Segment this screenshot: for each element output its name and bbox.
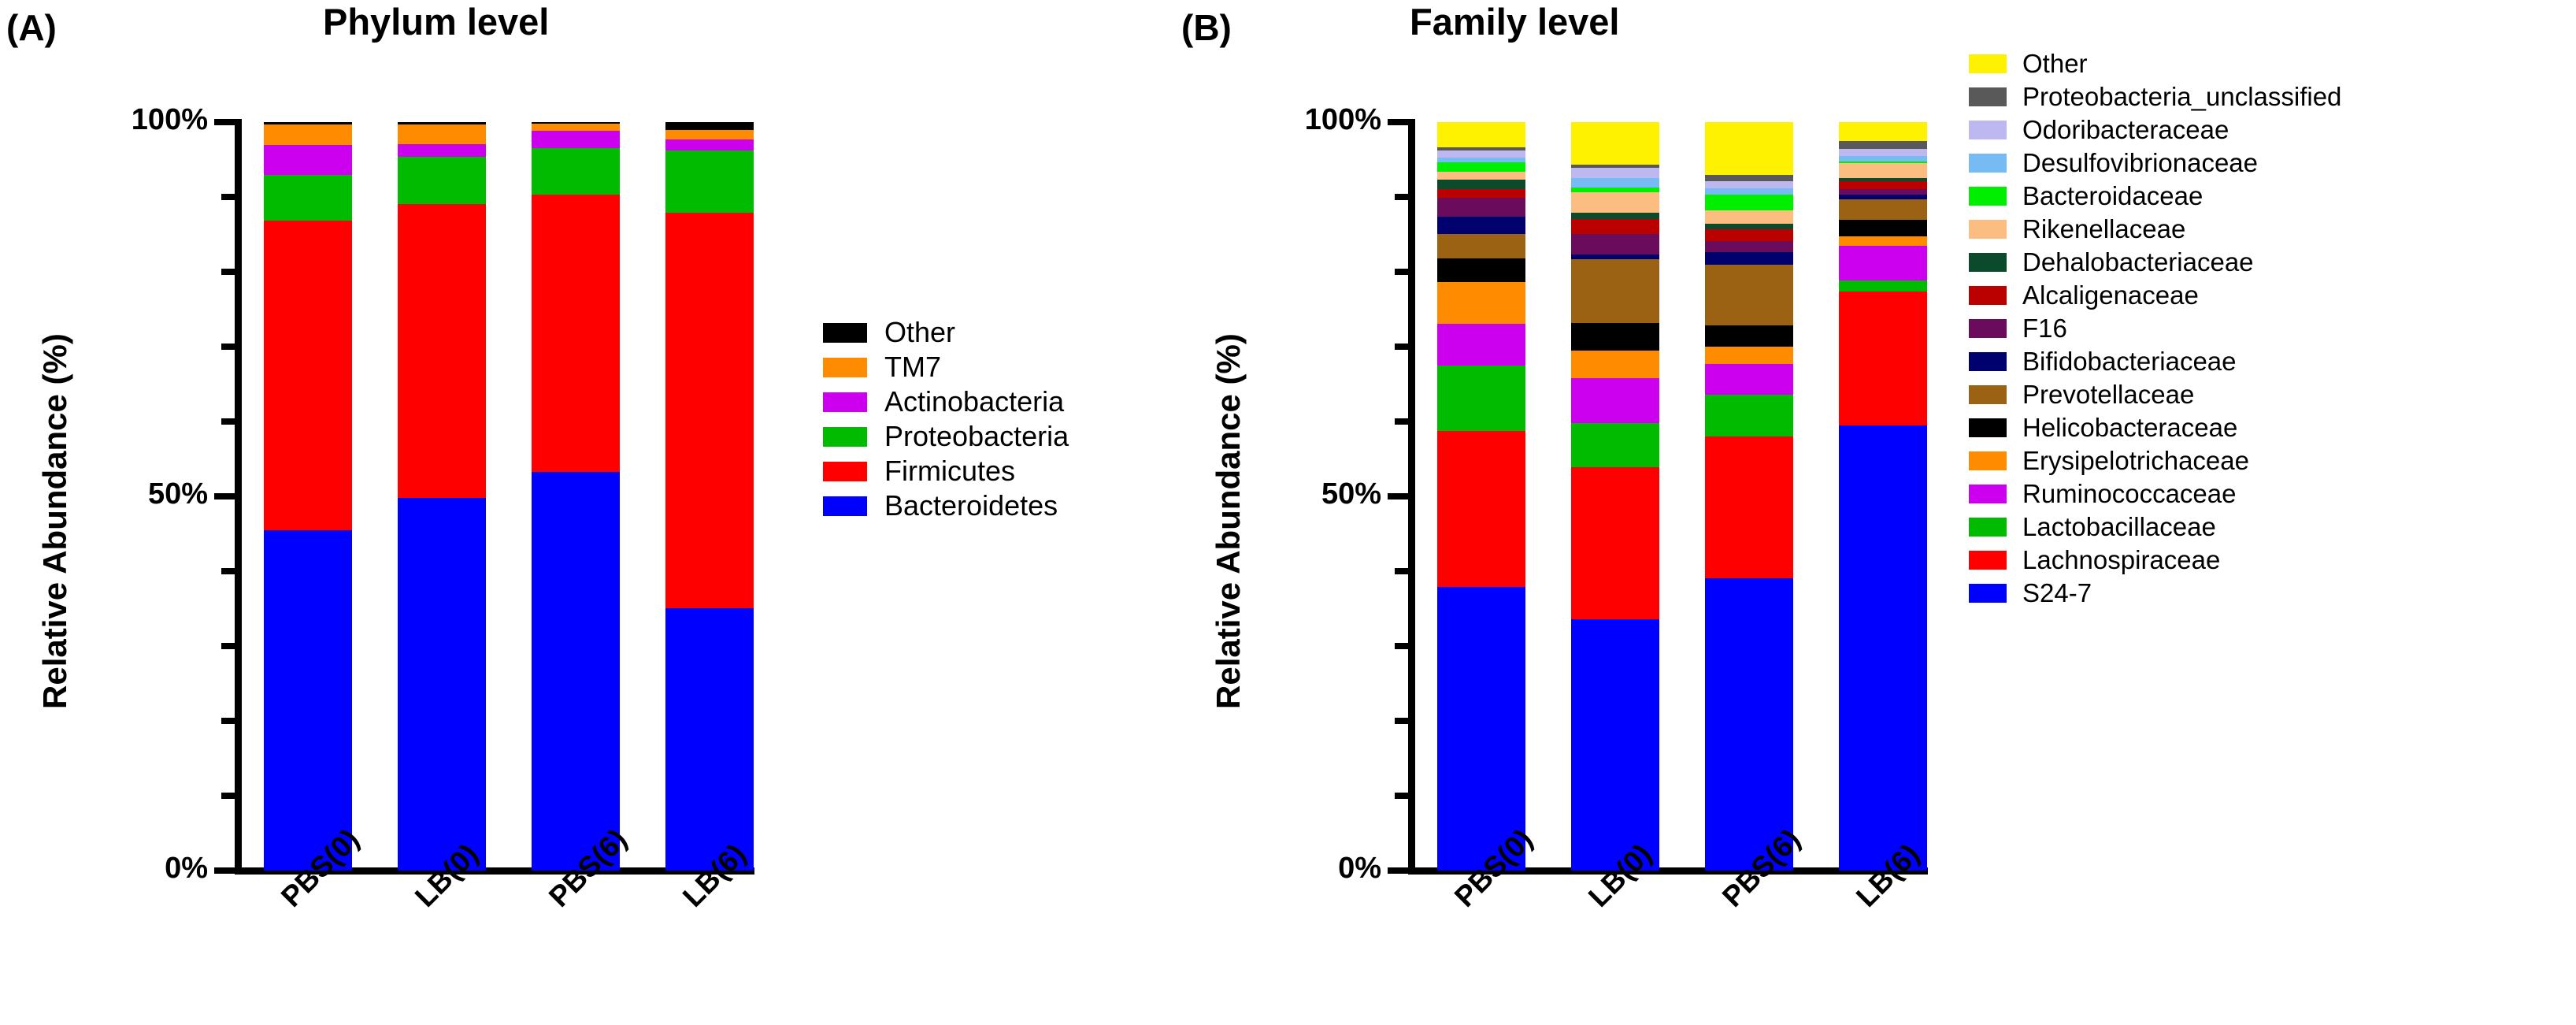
legend-item-label: Bifidobacteriaceae (2022, 347, 2237, 377)
figure-root: (A) Phylum level Relative Abundance (%) … (0, 0, 2576, 1025)
panel-b-legend: OtherProteobacteria_unclassifiedOdoribac… (1969, 47, 2341, 610)
panel-a-bars (242, 122, 754, 871)
legend-item-label: Lactobacillaceae (2022, 512, 2216, 542)
legend-item[interactable]: Bifidobacteriaceae (1969, 345, 2341, 378)
legend-item-label: Alcaligenaceae (2022, 280, 2199, 310)
bar-segment[interactable] (532, 148, 620, 195)
y-tick-label: 0% (38, 852, 208, 886)
stacked-bar[interactable] (665, 122, 754, 871)
bar-segment[interactable] (1839, 292, 1927, 425)
legend-item[interactable]: Lactobacillaceae (1969, 511, 2341, 544)
legend-color-swatch (1969, 352, 2007, 371)
bar-segment[interactable] (1705, 122, 1793, 175)
bar-segment[interactable] (1437, 189, 1525, 198)
panel-a: (A) Phylum level Relative Abundance (%) … (0, 0, 1181, 1025)
bar-segment[interactable] (1571, 467, 1659, 619)
bar-segment[interactable] (1705, 436, 1793, 579)
bar-segment[interactable] (1705, 347, 1793, 364)
bar-segment[interactable] (665, 150, 754, 213)
legend-color-swatch (1969, 451, 2007, 470)
panel-b-plot-area: 100%50%0% PBS(0)LB(0)PBS(6)LB(6) (1181, 0, 2576, 1025)
panel-a-legend: OtherTM7ActinobacteriaProteobacteriaFirm… (823, 315, 1069, 523)
legend-item[interactable]: Bacteroidetes (823, 488, 1069, 523)
legend-item-label: Dehalobacteriaceae (2022, 247, 2254, 277)
y-tick-label: 0% (1211, 852, 1381, 886)
bar-segment[interactable] (1437, 122, 1525, 147)
y-tick (1395, 194, 1408, 200)
legend-item-label: Actinobacteria (884, 385, 1064, 418)
bar-segment[interactable] (1839, 425, 1927, 871)
bar-segment[interactable] (1437, 150, 1525, 158)
bar-segment[interactable] (1437, 158, 1525, 163)
bar-segment[interactable] (1571, 619, 1659, 871)
bar-segment[interactable] (1839, 236, 1927, 245)
bar-segment[interactable] (398, 498, 486, 871)
y-tick (1395, 269, 1408, 275)
bar-segment[interactable] (1437, 217, 1525, 235)
bar-segment[interactable] (1571, 323, 1659, 350)
bar-segment[interactable] (264, 145, 352, 175)
bar-segment[interactable] (1705, 210, 1793, 224)
stacked-bar[interactable] (398, 122, 486, 871)
bar-segment[interactable] (665, 130, 754, 139)
legend-color-swatch (823, 462, 867, 481)
stacked-bar[interactable] (1705, 122, 1793, 871)
legend-item[interactable]: TM7 (823, 350, 1069, 384)
legend-color-swatch (1969, 253, 2007, 272)
legend-item-label: F16 (2022, 314, 2067, 344)
legend-item[interactable]: Ruminococcaceae (1969, 477, 2341, 511)
bar-segment[interactable] (398, 144, 486, 157)
legend-item[interactable]: Actinobacteria (823, 384, 1069, 419)
legend-color-swatch (1969, 518, 2007, 537)
legend-item-label: Prevotellaceae (2022, 380, 2194, 410)
bar-segment[interactable] (532, 195, 620, 472)
legend-color-swatch (823, 323, 867, 343)
bar-segment[interactable] (1705, 229, 1793, 241)
legend-color-swatch (1969, 584, 2007, 603)
legend-item-label: Other (2022, 49, 2088, 79)
bar-segment[interactable] (1705, 181, 1793, 188)
bar-segment[interactable] (1839, 141, 1927, 149)
legend-item[interactable]: Proteobacteria (823, 419, 1069, 454)
legend-item-label: Other (884, 316, 955, 349)
legend-item-label: TM7 (884, 351, 941, 384)
y-tick (221, 643, 235, 649)
stacked-bar[interactable] (1571, 122, 1659, 871)
legend-color-swatch (1969, 485, 2007, 503)
legend-color-swatch (1969, 220, 2007, 239)
bar-segment[interactable] (1437, 162, 1525, 171)
bar-segment[interactable] (1571, 219, 1659, 233)
stacked-bar[interactable] (264, 122, 352, 871)
legend-item-label: Proteobacteria_unclassified (2022, 82, 2341, 112)
panel-b-bars (1415, 122, 1927, 871)
legend-item-label: Bacteroidaceae (2022, 181, 2203, 211)
y-tick (221, 568, 235, 574)
bar-segment[interactable] (1437, 198, 1525, 217)
bar-segment[interactable] (532, 124, 620, 132)
y-tick (1395, 568, 1408, 574)
bar-segment[interactable] (1839, 163, 1927, 178)
bar-segment[interactable] (1705, 224, 1793, 229)
bar-segment[interactable] (1705, 265, 1793, 325)
legend-color-swatch (1969, 418, 2007, 437)
panel-b: (B) Family level Relative Abundance (%) … (1181, 0, 2576, 1025)
legend-color-swatch (1969, 187, 2007, 206)
y-tick (221, 718, 235, 724)
legend-item[interactable]: Bacteroidaceae (1969, 180, 2341, 213)
legend-item-label: S24-7 (2022, 578, 2092, 608)
bar-segment[interactable] (1705, 252, 1793, 265)
legend-item[interactable]: Other (1969, 47, 2341, 80)
y-tick (221, 194, 235, 200)
legend-color-swatch (823, 427, 867, 447)
bar-segment[interactable] (1571, 168, 1659, 178)
bar-segment[interactable] (398, 204, 486, 498)
bar-segment[interactable] (665, 122, 754, 130)
bar-segment[interactable] (1437, 282, 1525, 324)
legend-color-swatch (1969, 551, 2007, 570)
legend-item[interactable]: Desulfovibrionaceae (1969, 147, 2341, 180)
stacked-bar[interactable] (1437, 122, 1525, 871)
legend-color-swatch (1969, 154, 2007, 173)
bar-segment[interactable] (532, 472, 620, 871)
y-tick (1395, 793, 1408, 799)
legend-color-swatch (823, 496, 867, 516)
bar-segment[interactable] (1705, 195, 1793, 210)
bar-segment[interactable] (1437, 431, 1525, 587)
y-tick (221, 344, 235, 350)
y-tick (221, 269, 235, 275)
bar-segment[interactable] (1571, 192, 1659, 213)
y-tick-label: 50% (38, 477, 208, 511)
bar-segment[interactable] (398, 157, 486, 204)
bar-segment[interactable] (1705, 188, 1793, 195)
legend-item-label: Erysipelotrichaceae (2022, 446, 2249, 476)
bar-segment[interactable] (1437, 234, 1525, 258)
legend-item-label: Bacteroidetes (884, 489, 1058, 522)
legend-item[interactable]: Firmicutes (823, 454, 1069, 488)
legend-item-label: Lachnospiraceae (2022, 545, 2220, 575)
legend-color-swatch (1969, 87, 2007, 106)
bar-segment[interactable] (264, 124, 352, 146)
bar-segment[interactable] (1705, 364, 1793, 395)
y-tick (214, 493, 235, 500)
bar-segment[interactable] (1839, 156, 1927, 162)
bar-segment[interactable] (1839, 149, 1927, 156)
y-tick (1388, 493, 1408, 500)
bar-segment[interactable] (1705, 175, 1793, 181)
legend-color-swatch (1969, 121, 2007, 139)
legend-item-label: Helicobacteraceae (2022, 413, 2237, 443)
legend-color-swatch (1969, 54, 2007, 73)
bar-segment[interactable] (1571, 378, 1659, 423)
bar-segment[interactable] (1437, 258, 1525, 282)
bar-segment[interactable] (1839, 280, 1927, 291)
legend-item-label: Odoribacteraceae (2022, 115, 2229, 145)
y-tick (1395, 418, 1408, 425)
bar-segment[interactable] (1571, 188, 1659, 193)
y-tick-label: 50% (1211, 477, 1381, 511)
y-tick (221, 418, 235, 425)
legend-item-label: Ruminococcaceae (2022, 479, 2236, 509)
y-tick (1388, 119, 1408, 125)
bar-segment[interactable] (1705, 325, 1793, 347)
bar-segment[interactable] (1705, 241, 1793, 252)
y-tick-label: 100% (38, 103, 208, 137)
bar-segment[interactable] (1839, 181, 1927, 189)
panel-a-y-axis-line (235, 119, 242, 874)
stacked-bar[interactable] (532, 122, 620, 871)
bar-segment[interactable] (1839, 246, 1927, 281)
legend-item[interactable]: Odoribacteraceae (1969, 113, 2341, 147)
y-tick (214, 867, 235, 874)
y-tick (1395, 718, 1408, 724)
bar-segment[interactable] (665, 139, 754, 150)
legend-item[interactable]: Dehalobacteriaceae (1969, 246, 2341, 279)
legend-item[interactable]: Lachnospiraceae (1969, 544, 2341, 577)
legend-color-swatch (823, 392, 867, 412)
bar-segment[interactable] (665, 213, 754, 609)
legend-item[interactable]: Helicobacteraceae (1969, 411, 2341, 444)
legend-item[interactable]: Other (823, 315, 1069, 350)
legend-item[interactable]: S24-7 (1969, 577, 2341, 610)
bar-segment[interactable] (1571, 213, 1659, 220)
y-tick (221, 793, 235, 799)
bar-segment[interactable] (1839, 122, 1927, 141)
legend-item-label: Proteobacteria (884, 420, 1069, 453)
bar-segment[interactable] (1437, 366, 1525, 432)
bar-segment[interactable] (264, 530, 352, 871)
legend-item[interactable]: Alcaligenaceae (1969, 279, 2341, 312)
legend-item-label: Rikenellaceae (2022, 214, 2185, 244)
legend-item[interactable]: F16 (1969, 312, 2341, 345)
bar-segment[interactable] (1571, 234, 1659, 255)
bar-segment[interactable] (398, 124, 486, 144)
bar-segment[interactable] (1839, 189, 1927, 195)
bar-segment[interactable] (1571, 178, 1659, 187)
legend-color-swatch (1969, 385, 2007, 404)
bar-segment[interactable] (532, 131, 620, 148)
bar-segment[interactable] (264, 221, 352, 529)
bar-segment[interactable] (1705, 395, 1793, 436)
bar-segment[interactable] (1571, 351, 1659, 378)
panel-b-y-axis-line (1408, 119, 1415, 874)
legend-item-label: Desulfovibrionaceae (2022, 148, 2258, 178)
bar-segment[interactable] (1571, 423, 1659, 467)
y-tick (1395, 643, 1408, 649)
bar-segment[interactable] (665, 608, 754, 871)
legend-color-swatch (823, 358, 867, 377)
y-tick (214, 119, 235, 125)
legend-item[interactable]: Proteobacteria_unclassified (1969, 80, 2341, 113)
stacked-bar[interactable] (1839, 122, 1927, 871)
bar-segment[interactable] (1437, 180, 1525, 188)
y-tick-label: 100% (1211, 103, 1381, 137)
y-tick (1395, 344, 1408, 350)
legend-color-swatch (1969, 286, 2007, 305)
legend-color-swatch (1969, 319, 2007, 338)
legend-item[interactable]: Prevotellaceae (1969, 378, 2341, 411)
bar-segment[interactable] (1571, 122, 1659, 165)
bar-segment[interactable] (1839, 199, 1927, 221)
bar-segment[interactable] (1437, 324, 1525, 365)
bar-segment[interactable] (264, 175, 352, 221)
bar-segment[interactable] (1571, 259, 1659, 324)
bar-segment[interactable] (1437, 172, 1525, 180)
legend-item-label: Firmicutes (884, 455, 1015, 488)
legend-item[interactable]: Rikenellaceae (1969, 213, 2341, 246)
y-tick (1388, 867, 1408, 874)
bar-segment[interactable] (1839, 220, 1927, 236)
legend-item[interactable]: Erysipelotrichaceae (1969, 444, 2341, 477)
